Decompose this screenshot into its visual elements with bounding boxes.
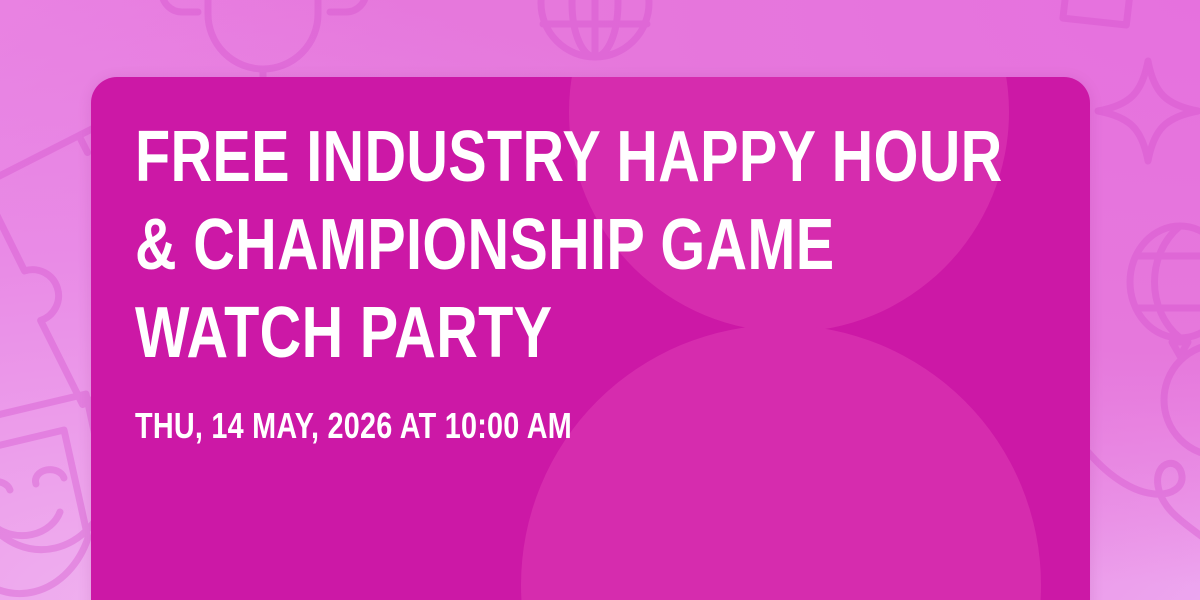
sparkle-icon	[1098, 61, 1198, 161]
balloon-string-icon	[1088, 344, 1200, 600]
balloon-icon	[1130, 226, 1200, 356]
card-content: Free Industry Happy Hour & Championship …	[91, 77, 1090, 600]
event-card[interactable]: Free Industry Happy Hour & Championship …	[91, 77, 1090, 600]
event-banner: Free Industry Happy Hour & Championship …	[0, 0, 1200, 600]
confetti-popper-icon	[995, 0, 1200, 53]
globe-icon	[541, 0, 649, 57]
event-title: Free Industry Happy Hour & Championship …	[135, 113, 1053, 377]
event-datetime: Thu, 14 May, 2026 at 10:00 AM	[135, 405, 1053, 447]
